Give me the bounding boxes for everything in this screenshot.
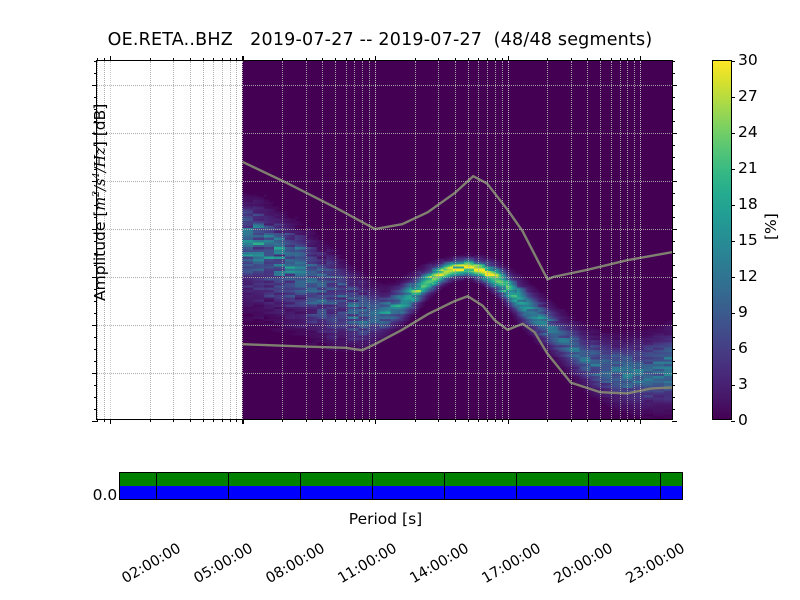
xtick-top [230, 58, 231, 61]
xtick [203, 419, 204, 422]
colorbar-tick [731, 97, 735, 98]
xtick-top [150, 58, 151, 61]
ytick-right [672, 313, 675, 314]
xtick-top [478, 58, 479, 61]
time-bar-tick [156, 473, 157, 499]
time-bar-tick [372, 473, 373, 499]
ytick-right [672, 85, 677, 86]
xtick-top [282, 58, 283, 61]
xtick [375, 419, 376, 424]
xtick [362, 419, 363, 422]
colorbar-tick-label: 24 [738, 123, 758, 141]
ytick [94, 397, 97, 398]
ytick-right [672, 61, 675, 62]
xtick [508, 419, 509, 424]
colorbar-tick [731, 385, 735, 386]
xtick [104, 419, 105, 422]
ytick [92, 85, 97, 86]
xtick [150, 419, 151, 422]
xtick-top [97, 58, 98, 61]
time-tick-label: 20:00:00 [551, 541, 615, 587]
colorbar-tick-label: 6 [738, 339, 748, 357]
xtick [547, 419, 548, 422]
xtick-top [627, 58, 628, 61]
colorbar-gradient [713, 61, 731, 419]
ytick-right [672, 373, 677, 374]
time-tick-label: 02:00:00 [119, 541, 183, 587]
ytick-right [672, 301, 675, 302]
xtick-top [502, 58, 503, 61]
ytick-right [672, 133, 677, 134]
xtick [600, 419, 601, 422]
colorbar-tick [731, 421, 735, 422]
colorbar-tick [731, 205, 735, 206]
ytick [94, 313, 97, 314]
xtick-top [306, 58, 307, 61]
time-band-green [120, 473, 682, 486]
xtick [335, 419, 336, 422]
xtick [354, 419, 355, 422]
xtick [213, 419, 214, 422]
time-bar-tick [516, 473, 517, 499]
ytick-right [672, 169, 675, 170]
xtick [415, 419, 416, 422]
ytick-right [672, 349, 675, 350]
time-tick-label: 23:00:00 [623, 541, 687, 587]
xtick-top [346, 58, 347, 61]
noise-model-curves [97, 61, 672, 419]
colorbar [712, 60, 732, 420]
xtick-top [110, 56, 111, 61]
xtick-top [242, 56, 243, 61]
ytick-right [672, 385, 675, 386]
xtick-top [547, 58, 548, 61]
colorbar-title: [%] [762, 213, 780, 240]
xtick [478, 419, 479, 422]
xtick [571, 419, 572, 422]
time-bar-tick [588, 473, 589, 499]
xtick [222, 419, 223, 422]
xtick [620, 419, 621, 422]
ytick [94, 349, 97, 350]
ytick-right [672, 253, 675, 254]
ytick-right [672, 229, 677, 230]
xtick [455, 419, 456, 422]
time-tick-label: 05:00:00 [191, 541, 255, 587]
ytick-right [672, 397, 675, 398]
xtick-top [236, 58, 237, 61]
xtick-top [600, 58, 601, 61]
ytick-right [672, 265, 675, 266]
colorbar-tick-label: 18 [738, 195, 758, 213]
ytick-right [672, 337, 675, 338]
time-band-blue [120, 486, 682, 499]
xtick-top [495, 58, 496, 61]
xtick-top [611, 58, 612, 61]
xtick [97, 419, 98, 422]
noise-model-nlnm [242, 296, 672, 393]
xtick [611, 419, 612, 422]
ytick [92, 325, 97, 326]
time-tick-label: 11:00:00 [335, 541, 399, 587]
xtick [190, 419, 191, 422]
ytick-right [672, 289, 675, 290]
xtick [587, 419, 588, 422]
xtick [640, 419, 641, 424]
ytick-right [672, 217, 675, 218]
xtick [322, 419, 323, 422]
xtick-top [222, 58, 223, 61]
ytick-right [672, 97, 675, 98]
colorbar-tick-label: 15 [738, 231, 758, 249]
ppsd-axes: −60−80−100−120−140−160−180−200 0.010.111… [96, 60, 673, 420]
ppsd-figure: OE.RETA..BHZ 2019-07-27 -- 2019-07-27 (4… [0, 0, 800, 600]
colorbar-tick-label: 3 [738, 375, 748, 393]
xtick [438, 419, 439, 422]
xtick-top [587, 58, 588, 61]
ytick-right [672, 121, 675, 122]
xtick [236, 419, 237, 422]
xtick-top [375, 56, 376, 61]
time-coverage-bar [119, 472, 683, 500]
ytick [94, 385, 97, 386]
ytick-right [672, 325, 677, 326]
xtick-top [634, 58, 635, 61]
xtick [495, 419, 496, 422]
colorbar-tick [731, 169, 735, 170]
ytick-right [672, 241, 675, 242]
ytick [92, 421, 97, 422]
xtick [487, 419, 488, 422]
xtick [306, 419, 307, 422]
xtick [173, 419, 174, 422]
xtick-top [369, 58, 370, 61]
xtick-top [190, 58, 191, 61]
time-bar-tick [228, 473, 229, 499]
xtick-top [213, 58, 214, 61]
ytick [94, 73, 97, 74]
ytick-right [672, 409, 675, 410]
xtick-top [438, 58, 439, 61]
ytick-right [672, 193, 675, 194]
xtick-top [104, 58, 105, 61]
ytick-right [672, 277, 677, 278]
ytick [94, 97, 97, 98]
ytick-right [672, 421, 677, 422]
xtick [634, 419, 635, 422]
xtick-top [362, 58, 363, 61]
xtick [230, 419, 231, 422]
xtick-top [468, 58, 469, 61]
ytick-right [672, 181, 677, 182]
xtick-top [354, 58, 355, 61]
xtick-top [335, 58, 336, 61]
y-axis-title: Amplitude [m2/s4/Hz] [dB] [91, 104, 109, 301]
colorbar-tick-label: 21 [738, 159, 758, 177]
xtick [110, 419, 111, 424]
ytick [94, 337, 97, 338]
time-tick-label: 08:00:00 [263, 541, 327, 587]
xtick-top [322, 58, 323, 61]
xtick-top [508, 56, 509, 61]
colorbar-tick-label: 9 [738, 303, 748, 321]
colorbar-tick-label: 30 [738, 51, 758, 69]
colorbar-tick [731, 277, 735, 278]
ytick [94, 61, 97, 62]
xtick-top [487, 58, 488, 61]
xtick [346, 419, 347, 422]
colorbar-tick-label: 12 [738, 267, 758, 285]
time-tick-label: 17:00:00 [479, 541, 543, 587]
time-bar-tick [660, 473, 661, 499]
xtick-top [415, 58, 416, 61]
noise-model-nhnm [242, 162, 672, 280]
xtick-top [455, 58, 456, 61]
ytick [94, 301, 97, 302]
colorbar-tick [731, 349, 735, 350]
ytick-right [672, 145, 675, 146]
xtick [369, 419, 370, 422]
ytick-right [672, 109, 675, 110]
xtick-top [620, 58, 621, 61]
ytick [94, 361, 97, 362]
xtick [242, 419, 243, 424]
xtick-top [203, 58, 204, 61]
ytick-right [672, 157, 675, 158]
xtick-top [571, 58, 572, 61]
xtick [502, 419, 503, 422]
colorbar-tick [731, 61, 735, 62]
ppsd-plot-area [97, 61, 672, 419]
colorbar-tick [731, 313, 735, 314]
time-bar-tick [444, 473, 445, 499]
ytick-right [672, 73, 675, 74]
xtick-top [640, 56, 641, 61]
xtick [627, 419, 628, 422]
ytick-right [672, 361, 675, 362]
page-title: OE.RETA..BHZ 2019-07-27 -- 2019-07-27 (4… [0, 30, 760, 50]
xtick [468, 419, 469, 422]
colorbar-tick-label: 0 [738, 411, 748, 429]
time-tick-label: 14:00:00 [407, 541, 471, 587]
time-bar-tick [300, 473, 301, 499]
ytick [94, 409, 97, 410]
xtick-top [173, 58, 174, 61]
xtick [282, 419, 283, 422]
ytick-right [672, 205, 675, 206]
colorbar-tick-label: 27 [738, 87, 758, 105]
x-axis-title: Period [s] [97, 510, 674, 528]
colorbar-tick [731, 133, 735, 134]
ytick [92, 373, 97, 374]
colorbar-tick [731, 241, 735, 242]
